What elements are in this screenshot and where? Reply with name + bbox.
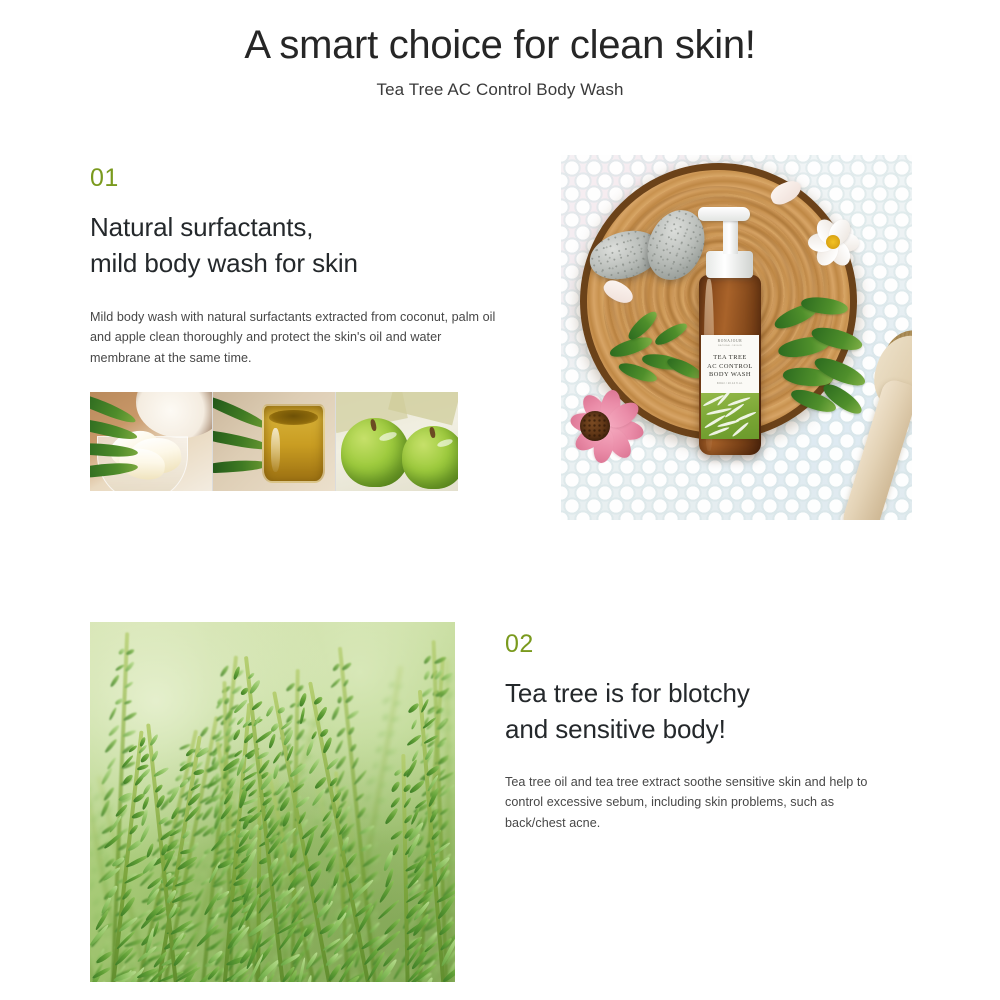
product-hero-photo: BONAJOUR NATURAL ORIGIN TEA TREE AC CONT… <box>561 155 912 520</box>
bottle-label-brand: BONAJOUR <box>701 340 759 344</box>
feature-02-body-text: Tea tree oil and tea tree extract soothe… <box>505 772 887 833</box>
feature-01-number: 01 <box>90 166 510 191</box>
page-subtitle: Tea Tree AC Control Body Wash <box>0 80 1000 100</box>
bottle-label-volume: 300ml / 10.14 fl.oz. <box>701 383 759 385</box>
palm-oil-thumbnail <box>213 392 335 491</box>
bottle-label-leaf-artwork <box>701 393 759 439</box>
bottle-label-line-1: TEA TREE <box>701 354 759 363</box>
page-header: A smart choice for clean skin! Tea Tree … <box>0 0 1000 100</box>
background-shape <box>388 392 458 425</box>
feature-01-heading-line-1: Natural surfactants, <box>90 210 510 246</box>
pump-stem <box>723 218 738 254</box>
bottle-label-line-2: AC CONTROL <box>701 363 759 372</box>
white-camellia-flower <box>804 213 862 271</box>
feature-02-heading-line-2: and sensitive body! <box>505 712 905 748</box>
apple-thumbnail <box>336 392 458 491</box>
feature-01-body-text: Mild body wash with natural surfactants … <box>90 307 502 368</box>
body-wash-bottle: BONAJOUR NATURAL ORIGIN TEA TREE AC CONT… <box>682 207 775 455</box>
bottle-label: BONAJOUR NATURAL ORIGIN TEA TREE AC CONT… <box>701 335 759 439</box>
feature-01-heading-line-2: mild body wash for skin <box>90 246 510 282</box>
page-title: A smart choice for clean skin! <box>0 0 1000 68</box>
tea-tree-plant-photo <box>90 622 455 982</box>
pump-nozzle <box>698 207 750 221</box>
feature-02-number: 02 <box>505 632 905 657</box>
feature-02-heading-line-1: Tea tree is for blotchy <box>505 676 905 712</box>
pump-collar <box>706 251 753 278</box>
coconut-thumbnail <box>90 392 212 491</box>
green-apple <box>341 418 409 487</box>
palm-leaf <box>213 459 269 475</box>
bottle-label-brand-sub: NATURAL ORIGIN <box>701 345 759 347</box>
bottle-label-line-3: BODY WASH <box>701 371 759 380</box>
ingredient-thumbnail-strip <box>90 392 458 491</box>
feature-02-text-block: 02 Tea tree is for blotchy and sensitive… <box>505 632 905 833</box>
bottle-label-product-name: TEA TREE AC CONTROL BODY WASH <box>701 354 759 380</box>
feature-02-heading: Tea tree is for blotchy and sensitive bo… <box>505 676 905 748</box>
oil-glass-jar <box>262 404 325 483</box>
product-detail-page: A smart choice for clean skin! Tea Tree … <box>0 0 1000 1000</box>
feature-01-text-block: 01 Natural surfactants, mild body wash f… <box>90 166 510 368</box>
green-apple <box>402 426 458 489</box>
palm-leaf <box>90 398 139 491</box>
feature-01-heading: Natural surfactants, mild body wash for … <box>90 210 510 282</box>
